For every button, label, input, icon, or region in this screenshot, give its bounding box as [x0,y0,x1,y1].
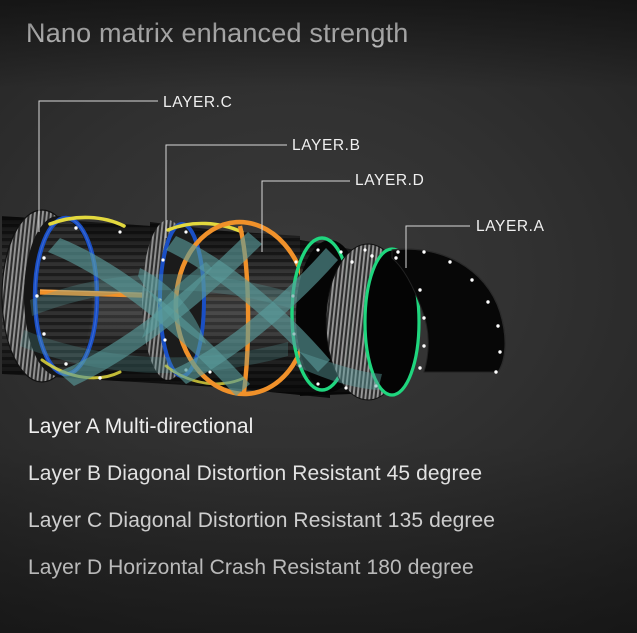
callout-label-layer-d: LAYER.D [355,172,424,190]
legend-item-layer-c: Layer C Diagonal Distortion Resistant 13… [28,509,588,533]
legend-list: Layer A Multi-directional Layer B Diagon… [28,415,588,603]
legend-item-layer-d: Layer D Horizontal Crash Resistant 180 d… [28,556,588,580]
leader-layer-c [39,101,158,232]
legend-item-layer-b: Layer B Diagonal Distortion Resistant 45… [28,462,588,486]
diagram-page: Nano matrix enhanced strength [0,0,637,633]
callout-label-layer-b: LAYER.B [292,137,361,155]
callout-label-layer-c: LAYER.C [163,94,232,112]
callout-label-layer-a: LAYER.A [476,218,545,236]
legend-item-layer-a: Layer A Multi-directional [28,415,588,439]
